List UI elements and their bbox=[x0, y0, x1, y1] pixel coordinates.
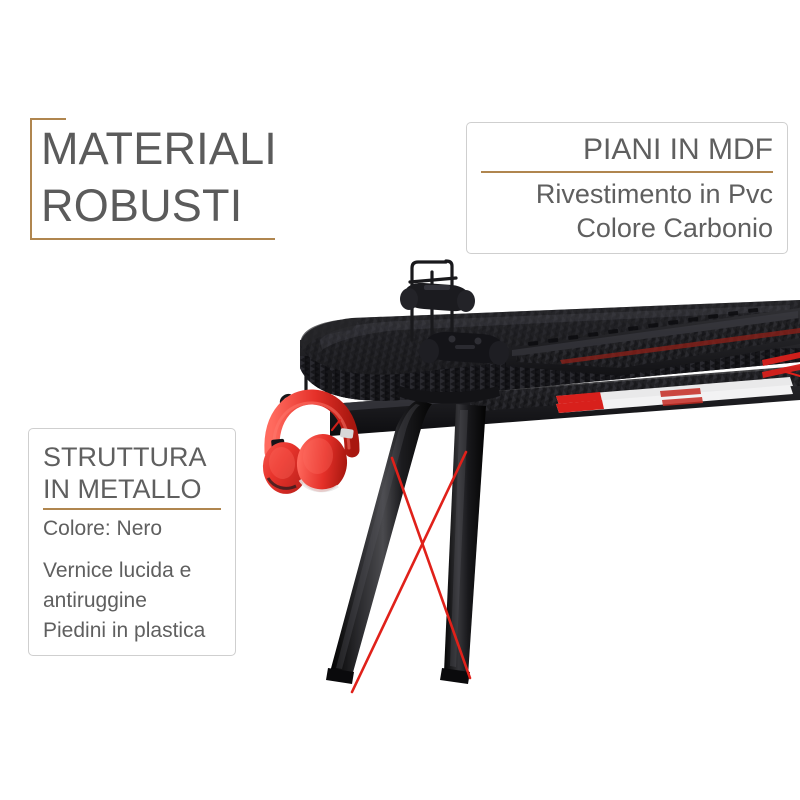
title-line-2: ROBUSTI bbox=[41, 177, 277, 234]
title-text: MATERIALI ROBUSTI bbox=[41, 120, 277, 234]
callout-structure-line-2: Vernice lucida e bbox=[43, 556, 221, 586]
callout-structure: STRUTTURA IN METALLO Colore: Nero Vernic… bbox=[28, 428, 236, 656]
callout-materials-title: PIANI IN MDF bbox=[481, 132, 773, 168]
callout-structure-line-3: antiruggine bbox=[43, 586, 221, 616]
gamepad bbox=[400, 283, 475, 312]
callout-structure-spacer bbox=[43, 544, 221, 556]
game-cases bbox=[556, 377, 793, 413]
title-bracket-left bbox=[30, 118, 32, 240]
metal-leg-frame bbox=[326, 386, 500, 684]
callout-materials-rule bbox=[481, 171, 773, 173]
red-headphones bbox=[260, 397, 354, 497]
gamepad bbox=[419, 332, 509, 365]
callout-materials-line-2: Colore Carbonio bbox=[481, 211, 773, 245]
lower-shelf bbox=[330, 366, 800, 436]
callout-structure-title-line-2: IN METALLO bbox=[43, 473, 221, 505]
red-cross-brace bbox=[332, 420, 340, 430]
title-line-1: MATERIALI bbox=[41, 120, 277, 177]
callout-materials-line-1: Rivestimento in Pvc bbox=[481, 177, 773, 211]
infographic-canvas: MATERIALI ROBUSTI PIANI IN MDF Rivestime… bbox=[0, 0, 800, 800]
page-title: MATERIALI ROBUSTI bbox=[30, 118, 330, 240]
red-cross-brace bbox=[762, 352, 800, 378]
red-cross-brace bbox=[352, 372, 800, 692]
callout-structure-line-4: Piedini in plastica bbox=[43, 616, 221, 646]
desktop-carbon-fiber bbox=[300, 300, 800, 401]
controller-stand bbox=[410, 261, 456, 340]
callout-structure-rule bbox=[43, 508, 221, 510]
keyboard bbox=[506, 308, 800, 376]
callout-structure-title-line-1: STRUTTURA bbox=[43, 441, 221, 473]
title-bracket-bottom bbox=[30, 238, 275, 240]
callout-structure-line-1: Colore: Nero bbox=[43, 514, 221, 544]
callout-materials: PIANI IN MDF Rivestimento in Pvc Colore … bbox=[466, 122, 788, 254]
headphone-hook bbox=[281, 372, 330, 407]
